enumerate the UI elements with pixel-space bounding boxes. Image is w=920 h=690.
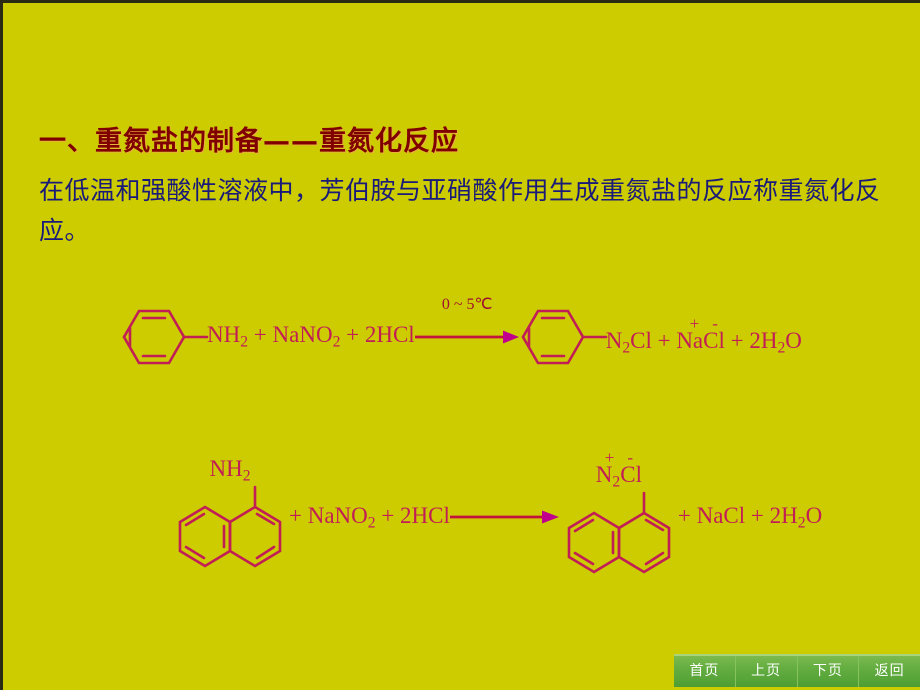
eq1-product-formula-group: +- N2Cl + NaCl + 2H2O: [606, 317, 802, 357]
naphthalene-reactant-group: NH2: [171, 457, 289, 577]
eq2-product-charges: +-: [560, 451, 678, 463]
navigation-bar: 首页 上页 下页 返回: [674, 654, 920, 687]
benzene-ring-product: [520, 301, 606, 373]
nav-button-previous-page[interactable]: 上页: [736, 656, 798, 687]
nav-button-return[interactable]: 返回: [859, 656, 920, 687]
page-title: 一、重氮盐的制备——重氮化反应: [39, 119, 459, 158]
equation-benzene-diazotization: NH2 + NaNO2 + 2HCl 0 ~ 5℃: [121, 301, 802, 373]
equation-naphthylamine-diazotization: NH2: [171, 451, 822, 583]
eq2-reaction-arrow: [450, 509, 560, 525]
slide-canvas: 一、重氮盐的制备——重氮化反应 在低温和强酸性溶液中，芳伯胺与亚硝酸作用生成重氮…: [3, 3, 920, 690]
body-paragraph: 在低温和强酸性溶液中，芳伯胺与亚硝酸作用生成重氮盐的反应称重氮化反应。: [39, 171, 891, 251]
benzene-ring-reactant: [121, 301, 207, 373]
eq2-reactant-formula: + NaNO2 + 2HCl: [289, 504, 450, 531]
eq1-reactant-formula: NH2 + NaNO2 + 2HCl: [207, 323, 415, 350]
naphthalene-reactant-substituent: NH2: [171, 457, 289, 484]
nav-button-first-page[interactable]: 首页: [674, 656, 736, 687]
eq1-reaction-arrow: 0 ~ 5℃: [415, 329, 520, 345]
naphthalene-product-substituent: N2Cl: [560, 463, 678, 490]
nav-button-next-page[interactable]: 下页: [798, 656, 860, 687]
eq1-product-formula: N2Cl + NaCl + 2H2O: [606, 329, 802, 356]
naphthalene-product-group: +- N2Cl: [560, 451, 678, 583]
eq2-product-formula: + NaCl + 2H2O: [678, 504, 822, 531]
